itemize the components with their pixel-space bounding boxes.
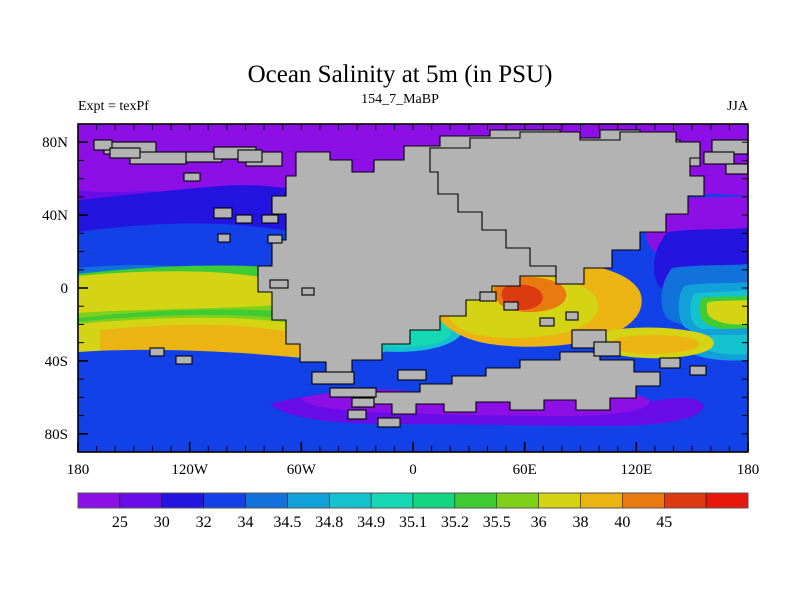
salinity-map-figure: Ocean Salinity at 5m (in PSU) 154_7_MaBP… (0, 0, 800, 600)
land-se-island-2 (690, 366, 706, 375)
land-west-island-2 (110, 148, 140, 158)
colorbar-band[interactable] (581, 493, 623, 508)
land-island-2 (214, 208, 232, 218)
experiment-label: Expt = texPf (78, 99, 149, 114)
land-eq-island-3 (480, 292, 496, 301)
land-eq-island-6 (566, 312, 578, 320)
land-island-7 (184, 173, 200, 181)
x-axis-label: 120E (620, 462, 652, 478)
land-eq-island-1 (270, 280, 288, 288)
colorbar-tick-label: 30 (154, 514, 170, 531)
land-farE-block-3 (726, 164, 748, 174)
land-island-1 (238, 150, 262, 162)
colorbar-tick-label: 34.8 (315, 514, 343, 531)
colorbar-band[interactable] (539, 493, 581, 508)
land-island-3 (236, 215, 252, 223)
x-axis-label: 0 (409, 462, 417, 478)
colorbar-tick-label: 34.9 (357, 514, 385, 531)
colorbar-band[interactable] (706, 493, 748, 508)
land-eq-island-4 (504, 302, 518, 310)
land-antarctic-shelf-2 (352, 398, 374, 407)
x-axis-label: 60E (513, 462, 537, 478)
colorbar-tick-label: 36 (531, 514, 547, 531)
land-farE-block-2 (704, 152, 734, 164)
land-antarctic-shelf-1 (330, 388, 376, 397)
land-se-island-1 (660, 358, 680, 368)
land-sw-island-1 (176, 356, 192, 364)
colorbar-band[interactable] (622, 493, 664, 508)
colorbar-band[interactable] (204, 493, 246, 508)
colorbar-bands (78, 493, 748, 508)
colorbar-band[interactable] (413, 493, 455, 508)
land-eq-island-2 (302, 288, 314, 295)
subtitle-epoch: 154_7_MaBP (361, 92, 439, 107)
colorbar-tick-label: 35.5 (483, 514, 511, 531)
land-antarctic-shelf-5 (312, 372, 354, 384)
land-island-6 (218, 234, 230, 242)
colorbar-band[interactable] (455, 493, 497, 508)
colorbar-band[interactable] (497, 493, 539, 508)
colorbar-tick-label: 34.5 (273, 514, 301, 531)
colorbar-tick-label: 40 (614, 514, 630, 531)
colorbar-band[interactable] (162, 493, 204, 508)
colorbar-band[interactable] (287, 493, 329, 508)
colorbar-band[interactable] (329, 493, 371, 508)
y-axis-label: 40S (45, 354, 68, 370)
colorbar-tick-label: 34 (238, 514, 254, 531)
colorbar-band[interactable] (246, 493, 288, 508)
colorbar-tick-label: 32 (196, 514, 212, 531)
y-axis-label: 80S (45, 427, 68, 443)
land-antarctic-shelf-4 (378, 418, 400, 427)
colorbar-tick-label: 25 (112, 514, 128, 531)
land-island-5 (262, 215, 278, 223)
y-axis-label: 80N (42, 135, 68, 151)
colorbar-band[interactable] (664, 493, 706, 508)
colorbar-band[interactable] (120, 493, 162, 508)
colorbar-band[interactable] (371, 493, 413, 508)
x-axis-label: 60W (287, 462, 317, 478)
land-sw-island-2 (150, 348, 164, 356)
season-label: JJA (727, 99, 749, 114)
x-axis-label: 180 (737, 462, 760, 478)
colorbar-tick-label: 35.2 (441, 514, 469, 531)
y-axis-label: 0 (61, 281, 69, 297)
land-australia-block-2 (594, 342, 620, 356)
land-island-4 (268, 235, 282, 243)
x-axis-label: 120W (171, 462, 209, 478)
colorbar-tick-label: 35.1 (399, 514, 427, 531)
land-antarctic-shelf-6 (398, 370, 426, 380)
land-eq-island-5 (540, 318, 554, 326)
land-antarctic-shelf-3 (348, 410, 366, 419)
y-axis-label: 40N (42, 208, 68, 224)
colorbar-tick-label: 38 (573, 514, 589, 531)
colorbar-band[interactable] (78, 493, 120, 508)
land-west-island-1 (94, 140, 112, 150)
page-title: Ocean Salinity at 5m (in PSU) (248, 61, 553, 88)
x-axis-label: 180 (67, 462, 90, 478)
colorbar-tick-label: 45 (656, 514, 672, 531)
map-plot-area: 180120W60W060E120E18080N40N040S80S (42, 124, 759, 478)
